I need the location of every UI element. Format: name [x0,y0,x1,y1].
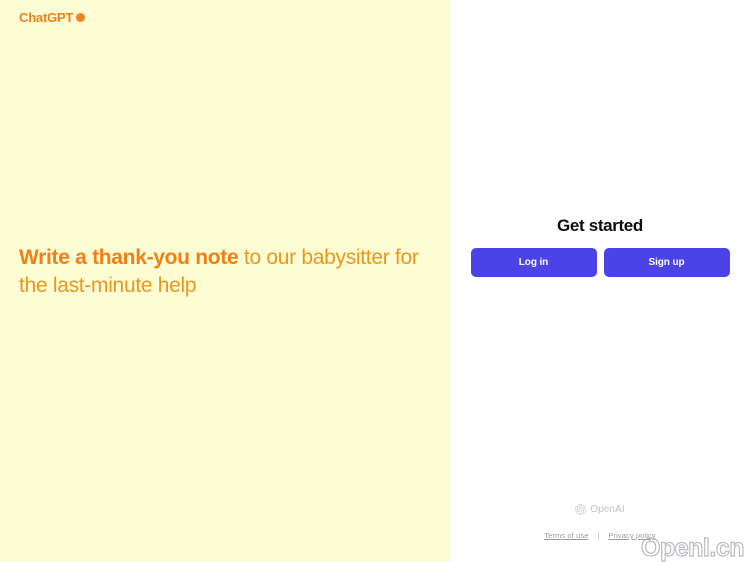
openai-label: OpenAI [590,505,625,515]
footer-links: Terms of use | Privacy policy [450,531,750,540]
terms-of-use-link[interactable]: Terms of use [544,531,588,540]
page-title: Get started [450,216,750,236]
footer: OpenAI Terms of use | Privacy policy [450,502,750,540]
chatgpt-brand-logo: ChatGPT [19,11,85,24]
example-prompt-text: Write a thank-you note to our babysitter… [19,244,419,300]
privacy-policy-link[interactable]: Privacy policy [608,531,655,540]
example-prompt-headline: Write a thank-you note [19,246,238,269]
openai-blossom-icon [575,504,586,515]
footer-separator: | [597,531,599,540]
signup-button[interactable]: Sign up [604,248,730,277]
openai-logo: OpenAI [575,504,625,515]
login-button[interactable]: Log in [471,248,597,277]
example-prompt: Write a thank-you note to our babysitter… [19,244,419,300]
left-promo-panel: ChatGPT Write a thank-you note to our ba… [0,0,450,562]
right-auth-panel: Get started Log in Sign up OpenAI Terms … [450,0,750,562]
get-started-section: Get started Log in Sign up [450,216,750,277]
auth-button-group: Log in Sign up [450,248,750,277]
brand-name-label: ChatGPT [19,11,73,24]
chatgpt-dot-icon [76,13,85,22]
login-page: ChatGPT Write a thank-you note to our ba… [0,0,750,562]
